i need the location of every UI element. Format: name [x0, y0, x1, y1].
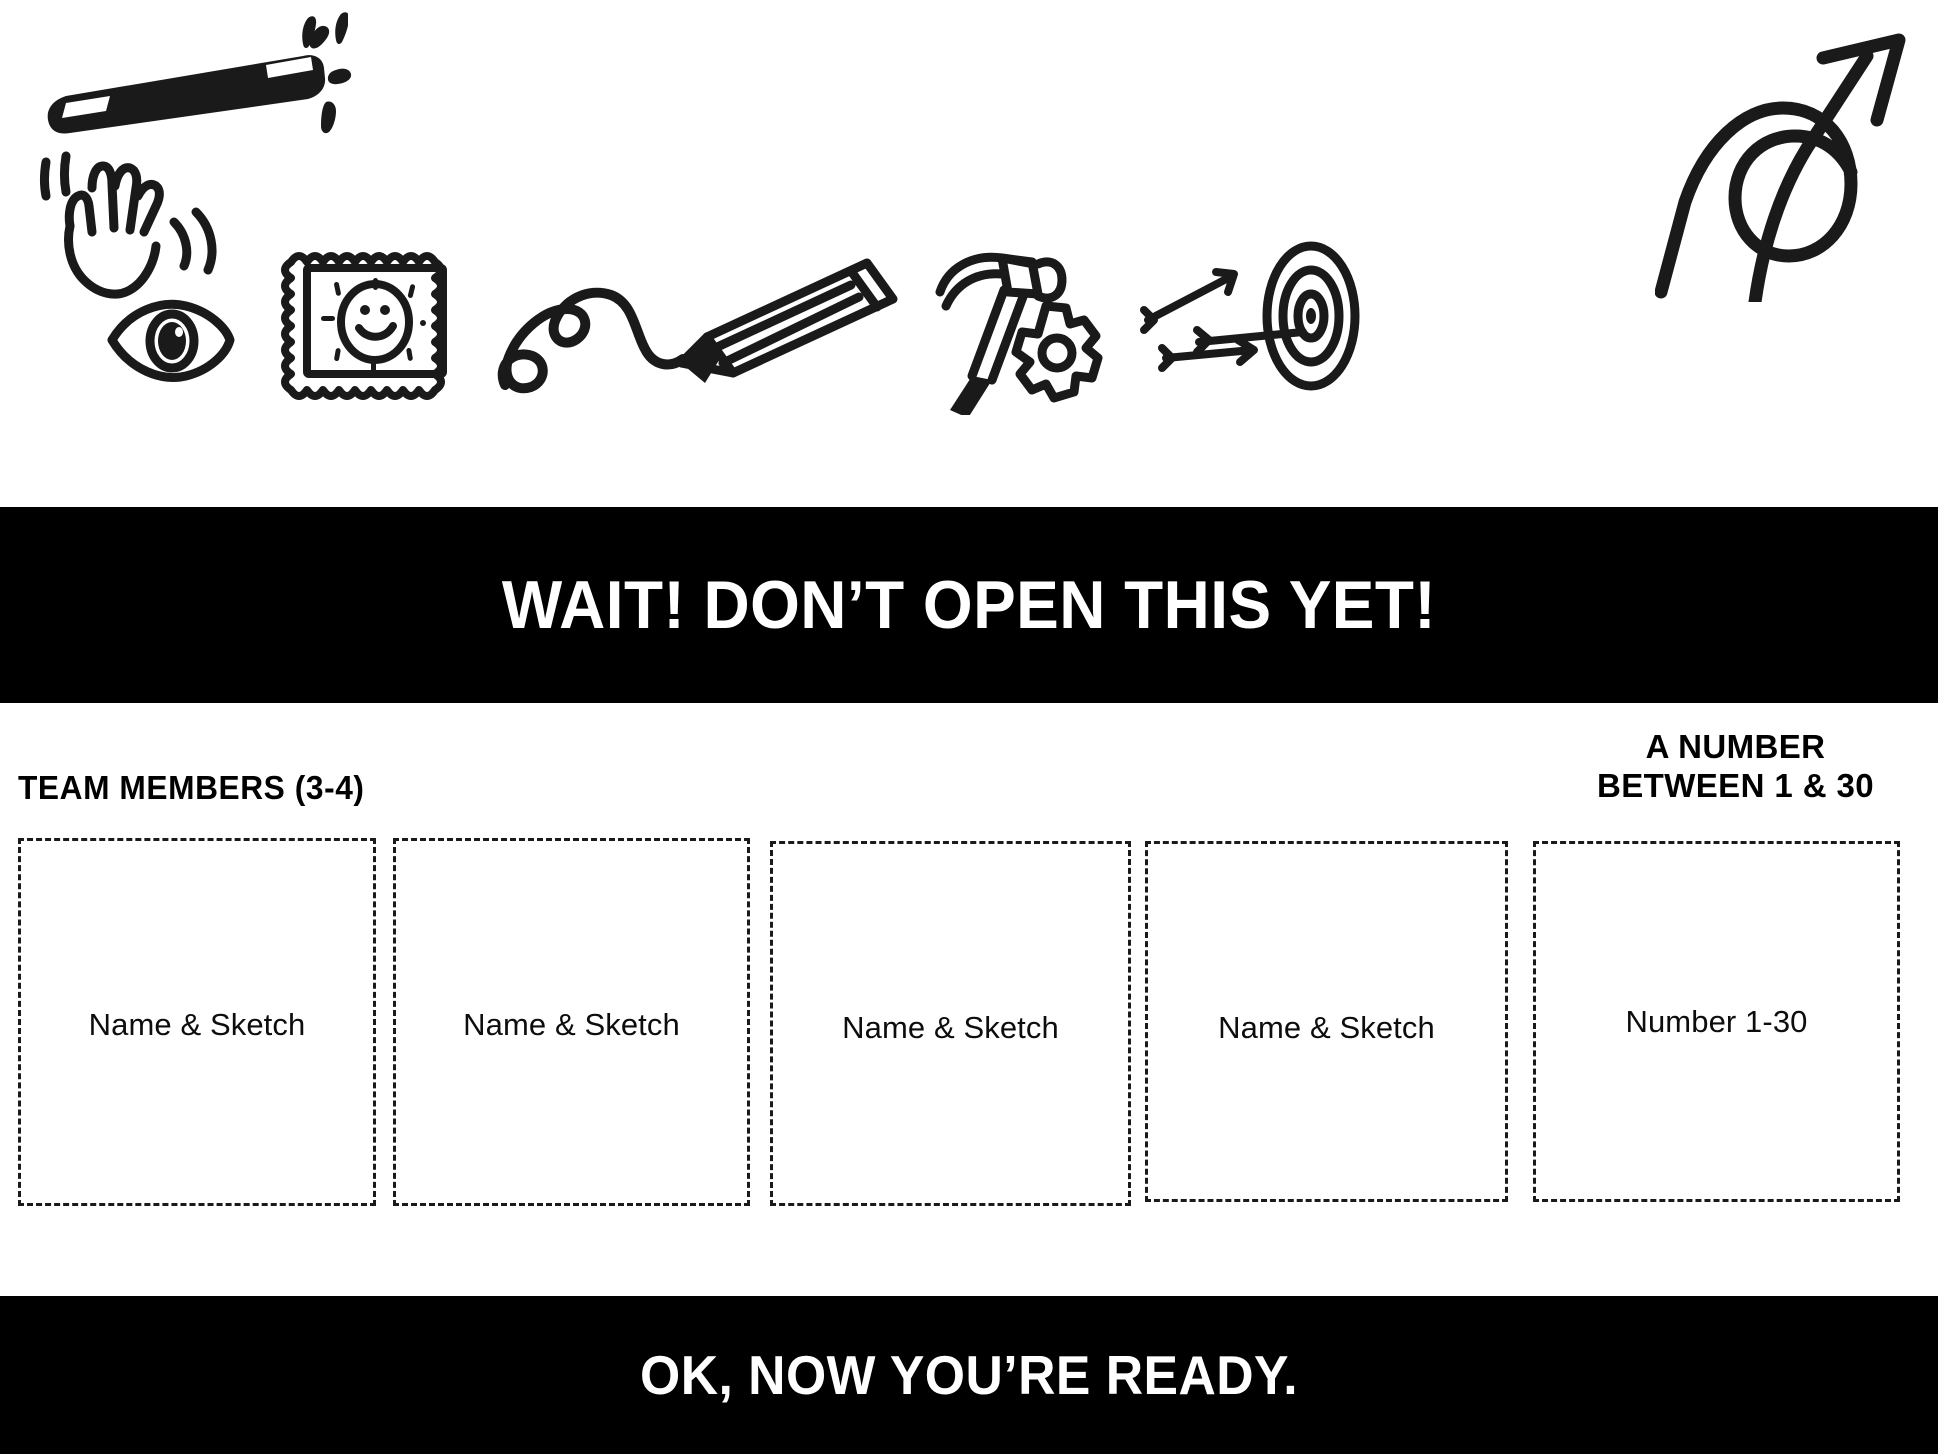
- name-sketch-box-2[interactable]: Name & Sketch: [393, 838, 750, 1206]
- loop-arrow-icon: [1655, 12, 1935, 302]
- name-sketch-box-3[interactable]: Name & Sketch: [770, 841, 1131, 1206]
- name-sketch-placeholder-1: Name & Sketch: [21, 1007, 373, 1043]
- wait-banner: WAIT! DON’T OPEN THIS YET!: [0, 507, 1938, 703]
- squiggle-pencil-icon: [495, 245, 915, 405]
- eye-icon: [100, 290, 240, 390]
- wait-banner-text: WAIT! DON’T OPEN THIS YET!: [502, 571, 1436, 639]
- name-sketch-placeholder-3: Name & Sketch: [773, 1010, 1128, 1046]
- number-placeholder: Number 1-30: [1536, 1004, 1897, 1040]
- name-sketch-box-1[interactable]: Name & Sketch: [18, 838, 376, 1206]
- bullseye-target-icon: [1253, 236, 1363, 396]
- ready-banner: OK, NOW YOU’RE READY.: [0, 1296, 1938, 1454]
- name-sketch-placeholder-2: Name & Sketch: [396, 1007, 747, 1043]
- name-sketch-box-4[interactable]: Name & Sketch: [1145, 841, 1508, 1202]
- ready-banner-text: OK, NOW YOU’RE READY.: [640, 1348, 1298, 1403]
- gear-icon: [1000, 298, 1115, 413]
- number-range-label-line2: BETWEEN 1 & 30: [1533, 767, 1938, 806]
- header-banner: [0, 0, 1938, 507]
- framed-picture-icon: [275, 236, 475, 406]
- design-dash-worksheet: WAIT! DON’T OPEN THIS YET! TEAM MEMBERS …: [0, 0, 1938, 1454]
- number-range-label: A NUMBER BETWEEN 1 & 30: [1533, 728, 1938, 806]
- team-members-label: TEAM MEMBERS (3-4): [18, 769, 365, 807]
- number-range-label-line1: A NUMBER: [1533, 728, 1938, 767]
- number-box[interactable]: Number 1-30: [1533, 841, 1900, 1202]
- magic-wand-sparkle-icon: [290, 22, 380, 152]
- name-sketch-placeholder-4: Name & Sketch: [1148, 1010, 1505, 1046]
